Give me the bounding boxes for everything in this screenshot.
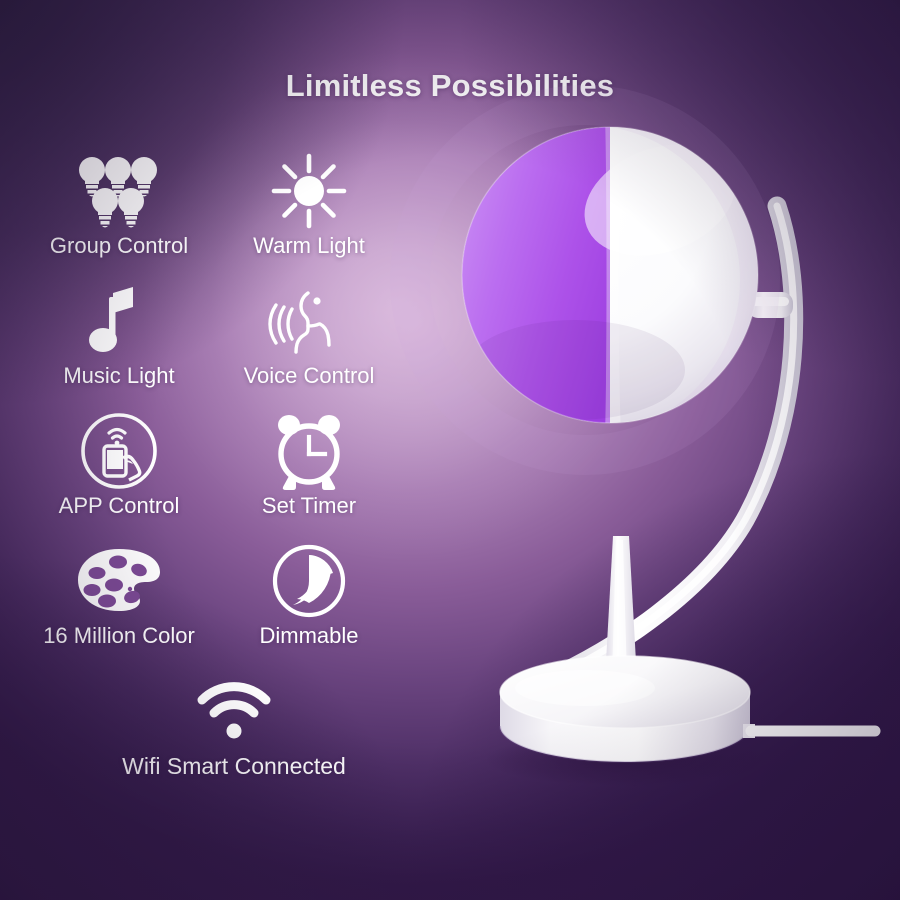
feature-label: Set Timer: [262, 493, 356, 519]
feature-group-control: Group Control: [24, 155, 214, 285]
smart-desk-lamp: [455, 120, 875, 810]
sun-icon: [270, 155, 348, 227]
music-note-icon: [89, 285, 149, 357]
feature-label: Wifi Smart Connected: [122, 753, 346, 780]
bulb-cluster-icon: [71, 155, 167, 227]
feature-label: Music Light: [63, 363, 174, 389]
alarm-clock-icon: [269, 415, 349, 487]
feature-row: APP Control: [24, 415, 444, 545]
feature-row: Wifi Smart Connected: [24, 675, 444, 795]
feature-label: 16 Million Color: [43, 623, 195, 649]
feature-label: Warm Light: [253, 233, 365, 259]
feature-wifi-smart-connected: Wifi Smart Connected: [24, 675, 444, 795]
feature-dimmable: Dimmable: [214, 545, 404, 675]
feature-music-light: Music Light: [24, 285, 214, 415]
feature-warm-light: Warm Light: [214, 155, 404, 285]
feature-16-million-color: 16 Million Color: [24, 545, 214, 675]
paint-palette-icon: [74, 545, 164, 617]
feature-app-control: APP Control: [24, 415, 214, 545]
feature-row: Music Light: [24, 285, 444, 415]
feature-label: Dimmable: [259, 623, 358, 649]
feature-row: Group Control: [24, 155, 444, 285]
feature-row: 16 Million Color Dimmable: [24, 545, 444, 675]
lamp-base: [500, 656, 750, 762]
feature-set-timer: Set Timer: [214, 415, 404, 545]
dimmer-circle-icon: [271, 545, 347, 617]
page-title: Limitless Possibilities: [0, 68, 900, 104]
feature-label: Group Control: [50, 233, 188, 259]
feature-voice-control: Voice Control: [214, 285, 404, 415]
voice-profile-icon: [268, 285, 350, 357]
wifi-icon: [192, 675, 276, 747]
feature-label: APP Control: [59, 493, 180, 519]
feature-list: Group Control: [24, 155, 444, 795]
product-marketing-image: Limitless Possibilities: [0, 0, 900, 900]
power-cord: [743, 724, 875, 738]
app-phone-icon: [79, 415, 159, 487]
feature-label: Voice Control: [244, 363, 375, 389]
